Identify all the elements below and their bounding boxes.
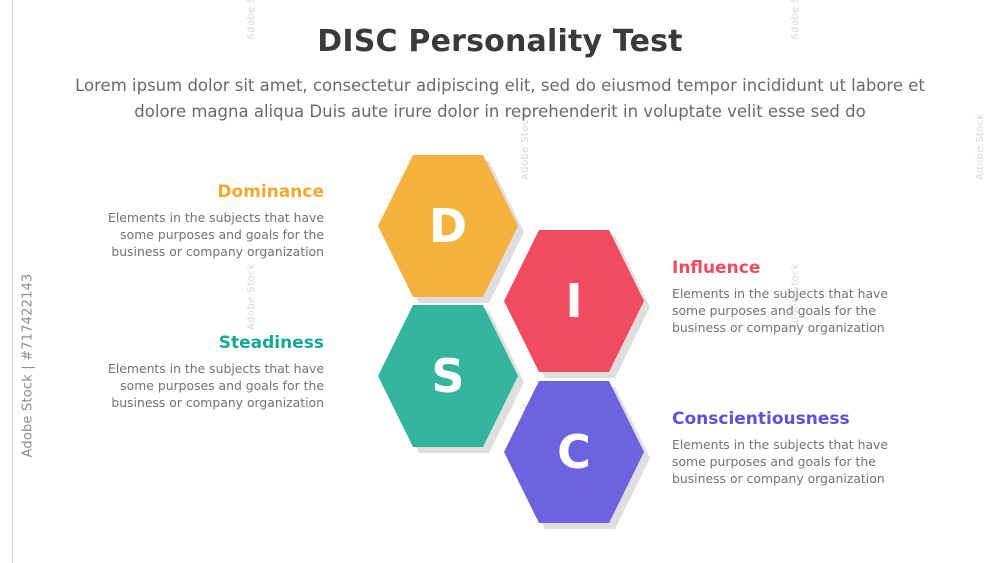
- hexagon-letter-dominance: D: [429, 203, 467, 249]
- label-title-conscientiousness: Conscientiousness: [672, 410, 912, 429]
- label-title-dominance: Dominance: [84, 183, 324, 202]
- label-block-influence: Influence Elements in the subjects that …: [672, 259, 912, 336]
- label-desc-dominance: Elements in the subjects that have some …: [84, 209, 324, 260]
- label-block-dominance: Dominance Elements in the subjects that …: [84, 183, 324, 260]
- hexagon-letter-influence: I: [565, 278, 582, 324]
- label-block-conscientiousness: Conscientiousness Elements in the subjec…: [672, 410, 912, 487]
- label-desc-influence: Elements in the subjects that have some …: [672, 285, 912, 336]
- label-title-influence: Influence: [672, 259, 912, 278]
- label-desc-steadiness: Elements in the subjects that have some …: [84, 360, 324, 411]
- disc-diagram: D I S C Dominance Elements in the subjec…: [0, 0, 1000, 563]
- label-title-steadiness: Steadiness: [84, 334, 324, 353]
- hexagon-letter-conscientiousness: C: [557, 429, 591, 475]
- label-desc-conscientiousness: Elements in the subjects that have some …: [672, 436, 912, 487]
- label-block-steadiness: Steadiness Elements in the subjects that…: [84, 334, 324, 411]
- hexagon-letter-steadiness: S: [431, 353, 464, 399]
